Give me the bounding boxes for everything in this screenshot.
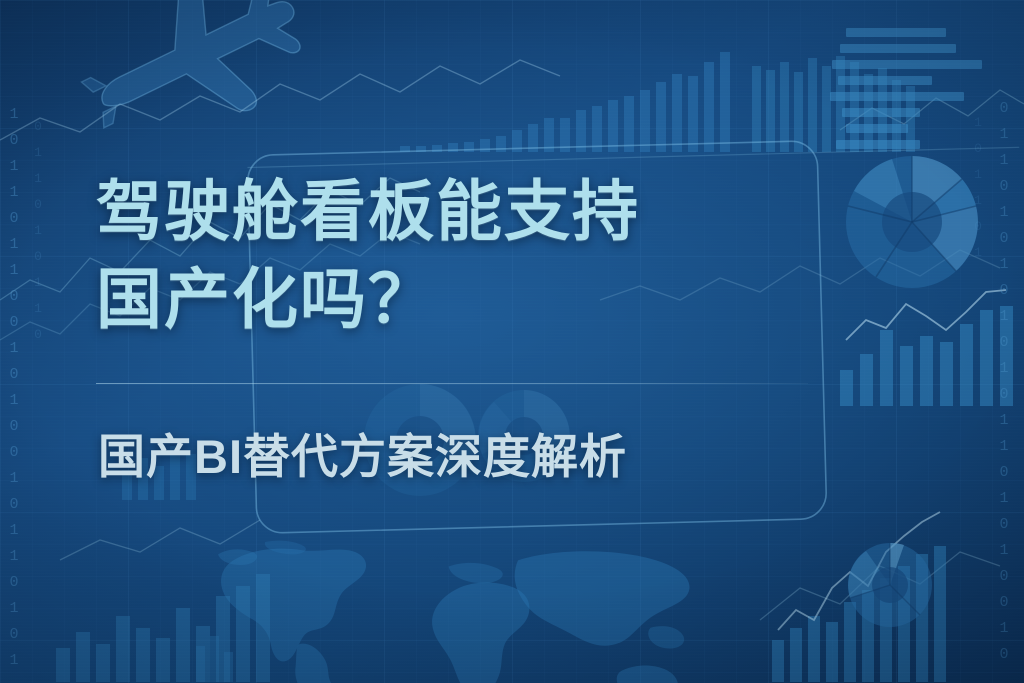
title-divider (96, 383, 808, 384)
hero-text-block: 驾驶舱看板能支持 国产化吗？ (96, 168, 856, 344)
hero-subtitle: 国产BI替代方案深度解析 (98, 418, 627, 487)
banner-canvas: 101 101 100 101 001 011 010 1 011 010 11… (0, 0, 1024, 683)
title-line-2: 国产化吗？ (96, 256, 856, 344)
panel-accent-line (247, 147, 1019, 167)
title-line-1: 驾驶舱看板能支持 (96, 168, 856, 256)
